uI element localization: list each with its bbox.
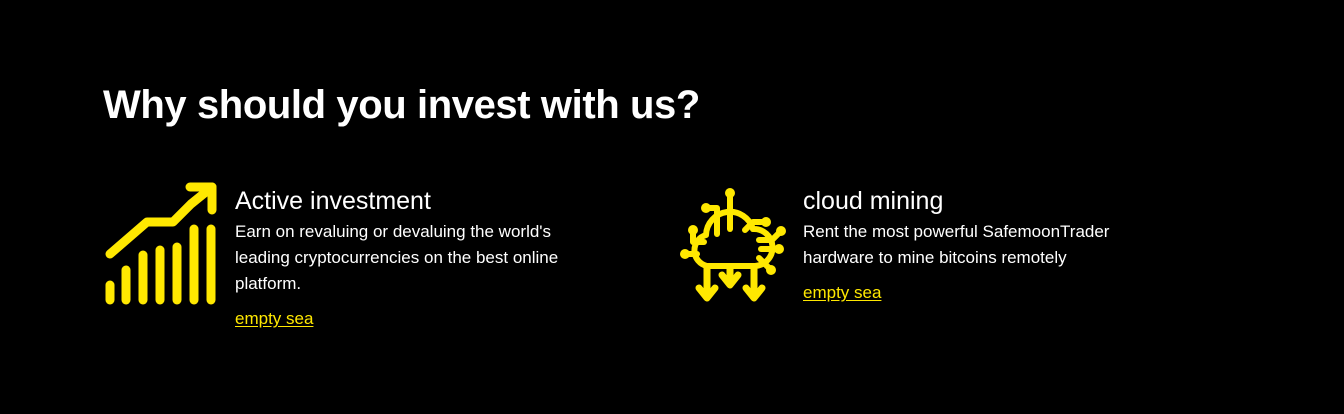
page-title: Why should you invest with us?	[103, 82, 700, 128]
feature-card-description: Earn on revaluing or devaluing the world…	[235, 219, 585, 297]
feature-card-link[interactable]: empty sea	[235, 308, 313, 330]
feature-card-title: Active investment	[235, 186, 669, 216]
feature-card-body: Active investment Earn on revaluing or d…	[235, 182, 669, 330]
feature-cards-row: Active investment Earn on revaluing or d…	[103, 182, 1283, 330]
cloud-mining-icon	[671, 182, 789, 304]
feature-card-active-investment: Active investment Earn on revaluing or d…	[103, 182, 669, 330]
growth-chart-icon	[103, 182, 221, 304]
feature-card-link[interactable]: empty sea	[803, 282, 881, 304]
feature-card-description: Rent the most powerful SafemoonTrader ha…	[803, 219, 1148, 271]
feature-card-title: cloud mining	[803, 186, 1237, 216]
feature-card-cloud-mining: cloud mining Rent the most powerful Safe…	[671, 182, 1237, 304]
feature-card-body: cloud mining Rent the most powerful Safe…	[803, 182, 1237, 304]
why-invest-section: Why should you invest with us?	[0, 0, 1344, 414]
